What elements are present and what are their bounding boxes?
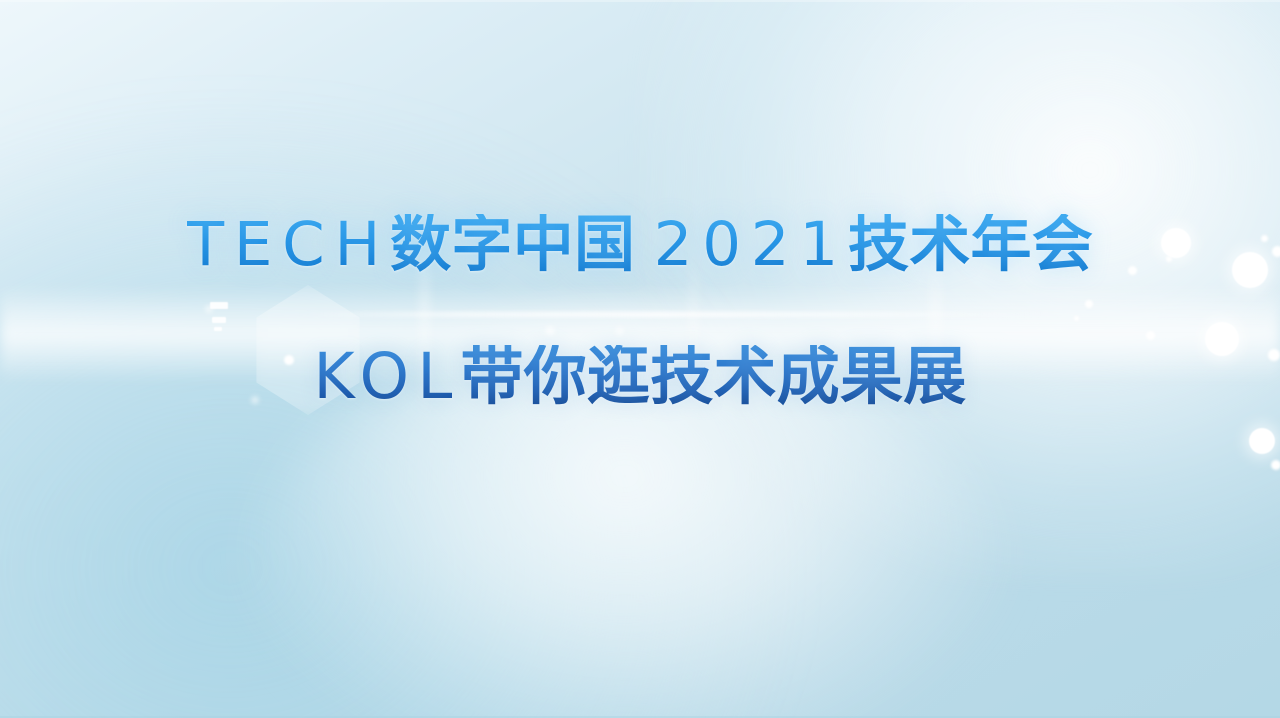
headline-han-2: 技术年会 xyxy=(848,210,1093,278)
bokeh-center-small xyxy=(1085,300,1093,308)
frame-edge-top xyxy=(0,0,1280,2)
light-shaft-right xyxy=(930,240,941,430)
background-light-streak xyxy=(300,312,1040,317)
headline-year: 2021 xyxy=(654,209,848,280)
headline-latin: TECH xyxy=(187,209,390,280)
event-subline: KOL带你逛技术成果展 xyxy=(313,345,966,409)
bokeh-left-center xyxy=(284,355,294,365)
sparkle-bar-upper xyxy=(210,302,228,309)
bokeh-mid-left-faint xyxy=(546,327,554,335)
bokeh-right-lowmid xyxy=(1249,428,1275,454)
bokeh-right-low-small xyxy=(1271,460,1280,470)
event-headline: TECH数字中国2021技术年会 xyxy=(187,214,1093,275)
bokeh-right-edge-small xyxy=(1272,246,1280,257)
background-globe-glow xyxy=(245,330,1005,718)
headline-han-1: 数字中国 xyxy=(390,210,635,278)
background-light-band xyxy=(0,286,1280,382)
bokeh-large-right-upper xyxy=(1161,228,1191,258)
bokeh-headline-right xyxy=(1146,331,1155,340)
bokeh-center-dot xyxy=(1074,316,1079,321)
title-block: TECH数字中国2021技术年会 KOL带你逛技术成果展 xyxy=(0,0,1280,718)
bokeh-right-far-low xyxy=(1268,349,1280,361)
light-shaft-center xyxy=(690,250,697,430)
bokeh-mid-center-faint xyxy=(616,328,623,335)
bokeh-upper-left-faint xyxy=(206,306,212,312)
background-tint-bottom-left xyxy=(0,118,780,718)
hex-bokeh-left xyxy=(248,285,368,415)
subline-latin: KOL xyxy=(313,340,460,413)
title-slide: TECH数字中国2021技术年会 KOL带你逛技术成果展 xyxy=(0,0,1280,718)
subline-han: 带你逛技术成果展 xyxy=(461,342,967,412)
light-shaft-left xyxy=(420,230,429,430)
bokeh-right-edge-tiny xyxy=(1261,235,1268,242)
background-glow-top-right xyxy=(640,0,1280,580)
bokeh-mid-right-dot xyxy=(1166,256,1172,262)
sparkle-bar-tiny xyxy=(214,327,222,331)
bokeh-below-streak xyxy=(252,397,258,403)
sparkle-bar-lower xyxy=(212,317,226,323)
bokeh-large-right-lower xyxy=(1205,322,1239,356)
bokeh-large-right-mid xyxy=(1232,252,1268,288)
bokeh-mid-right-small xyxy=(1128,266,1137,275)
